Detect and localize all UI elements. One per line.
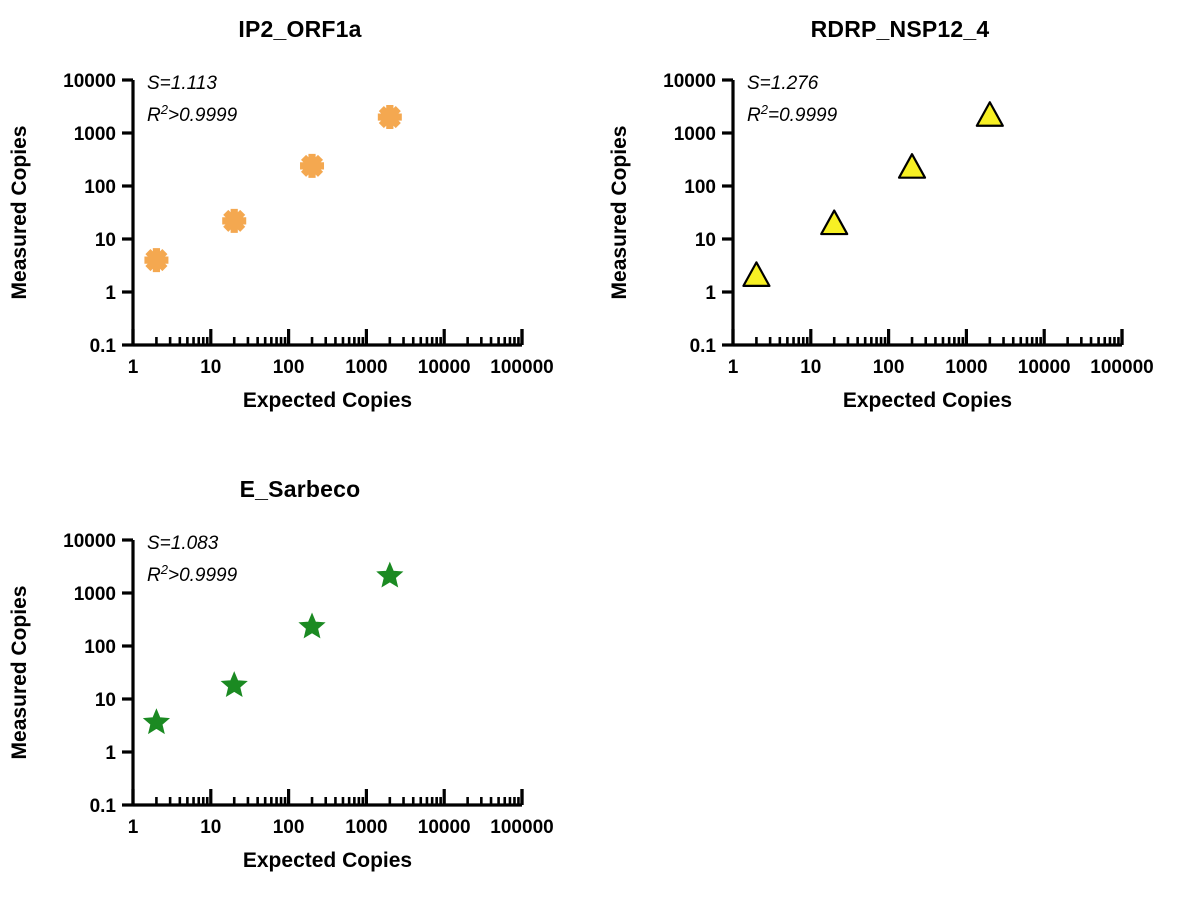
data-point [222,672,247,696]
data-point [300,154,324,178]
r-squared-value: >0.9999 [168,105,238,126]
slope-annotation: S=1.276 [747,73,819,94]
x-tick-label: 1 [128,817,139,838]
y-tick-label: 0.1 [90,796,117,817]
x-axis-ticks: 110100100010000100000 [128,329,554,378]
y-axis-title: Measured Copies [608,126,631,300]
data-points [144,105,401,272]
x-tick-label: 10 [800,357,821,378]
y-axis-ticks: 1000010001001010.1 [63,531,133,817]
x-axis-title: Expected Copies [243,849,412,872]
y-tick-label: 10000 [663,71,716,92]
x-tick-label: 100000 [490,357,553,378]
y-tick-label: 10 [695,230,716,251]
y-tick-label: 1 [705,283,716,304]
r-squared-value: =0.9999 [768,105,838,126]
r-squared-annotation: R2>0.9999 [147,562,238,586]
data-point [743,262,769,285]
y-axis-ticks: 1000010001001010.1 [63,71,133,357]
r-squared-base: R [147,565,161,586]
data-point [977,102,1003,125]
y-tick-label: 1 [105,743,116,764]
y-tick-label: 1000 [74,124,116,145]
chart-panel-1: IP2_ORF1a1000010001001010.11101001000100… [0,0,600,440]
plot-area: 1000010001001010.1110100100010000100000S… [0,460,600,909]
x-axis-ticks: 110100100010000100000 [128,789,554,838]
data-point [899,154,925,177]
x-tick-label: 10 [200,357,221,378]
x-tick-label: 100000 [490,817,553,838]
r-squared-annotation: R2=0.9999 [747,102,838,126]
x-tick-label: 1000 [345,817,387,838]
x-tick-label: 1000 [945,357,987,378]
y-tick-label: 100 [684,177,716,198]
y-tick-label: 100 [84,637,116,658]
x-tick-label: 1 [728,357,739,378]
x-axis-ticks: 110100100010000100000 [728,329,1154,378]
r-squared-annotation: R2>0.9999 [147,102,238,126]
data-point [300,614,325,638]
y-axis-title: Measured Copies [8,586,31,760]
y-axis-ticks: 1000010001001010.1 [663,71,733,357]
r-squared-base: R [147,105,161,126]
x-axis-title: Expected Copies [243,389,412,412]
x-tick-label: 10000 [1018,357,1071,378]
y-tick-label: 1000 [674,124,716,145]
y-tick-label: 10000 [63,531,116,552]
x-tick-label: 10 [200,817,221,838]
slope-annotation: S=1.113 [147,73,217,94]
chart-panel-3: E_Sarbeco1000010001001010.11101001000100… [0,460,600,909]
x-axis-title: Expected Copies [843,389,1012,412]
x-tick-label: 100000 [1090,357,1153,378]
data-points [144,563,402,733]
plot-area: 1000010001001010.1110100100010000100000S… [600,0,1200,440]
y-tick-label: 100 [84,177,116,198]
y-tick-label: 0.1 [90,336,117,357]
panel-title: E_Sarbeco [0,476,600,503]
plot-area: 1000010001001010.1110100100010000100000S… [0,0,600,440]
y-tick-label: 10000 [63,71,116,92]
x-tick-label: 10000 [418,357,471,378]
data-point [144,248,168,272]
x-tick-label: 100 [273,357,305,378]
x-tick-label: 1000 [345,357,387,378]
y-tick-label: 0.1 [690,336,717,357]
data-point [378,105,402,129]
x-tick-label: 100 [273,817,305,838]
y-tick-label: 10 [95,230,116,251]
x-tick-label: 1 [128,357,139,378]
r-squared-base: R [747,105,761,126]
panel-title: IP2_ORF1a [0,16,600,43]
x-tick-label: 10000 [418,817,471,838]
panel-title: RDRP_NSP12_4 [600,16,1200,43]
y-tick-label: 1 [105,283,116,304]
y-axis-title: Measured Copies [8,126,31,300]
y-tick-label: 10 [95,690,116,711]
data-point [222,209,246,233]
r-squared-value: >0.9999 [168,565,238,586]
data-point [377,563,402,587]
x-tick-label: 100 [873,357,905,378]
figure-canvas: IP2_ORF1a1000010001001010.11101001000100… [0,0,1200,909]
data-point [821,211,847,234]
data-points [743,102,1002,286]
data-point [144,710,169,734]
slope-annotation: S=1.083 [147,533,219,554]
chart-panel-2: RDRP_NSP12_41000010001001010.11101001000… [600,0,1200,440]
y-tick-label: 1000 [74,584,116,605]
